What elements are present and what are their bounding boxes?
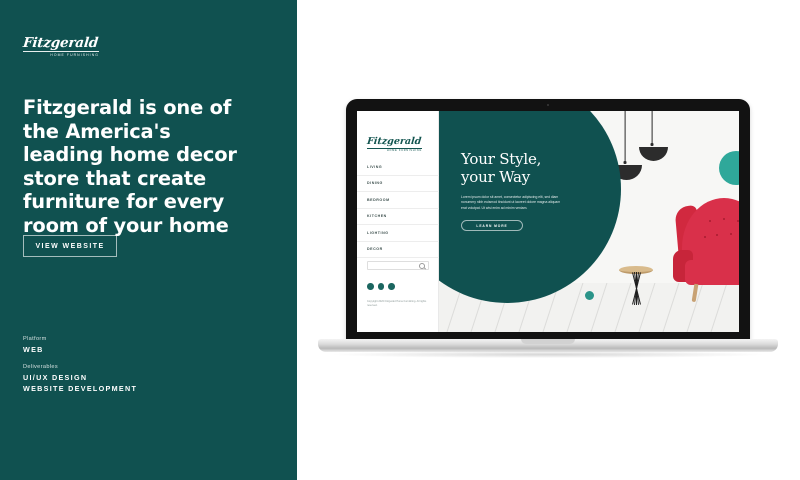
laptop-screen: Fitzgerald HOME FURNISHING LIVING DINING… xyxy=(357,111,739,332)
site-nav-item-dining[interactable]: DINING xyxy=(357,176,439,193)
meta-deliverables-key: Deliverables xyxy=(23,363,137,372)
site-nav-item-lighting[interactable]: LIGHTING xyxy=(357,225,439,242)
hero-title-line-1: Your Style, xyxy=(461,150,541,168)
meta-deliverables: Deliverables UI/UX DESIGN WEBSITE DEVELO… xyxy=(23,363,137,394)
laptop-mockup: Fitzgerald HOME FURNISHING LIVING DINING… xyxy=(318,99,778,361)
site-logo[interactable]: Fitzgerald HOME FURNISHING xyxy=(367,137,423,152)
site-nav-item-living[interactable]: LIVING xyxy=(357,159,439,176)
hero-title-line-2: your Way xyxy=(461,168,530,186)
site-footnote: Copyright 2020 Fitzgerald Home Furnishin… xyxy=(367,300,431,308)
twitter-icon[interactable] xyxy=(378,283,385,290)
brand-logo: Fitzgerald HOME FURNISHING xyxy=(23,36,101,58)
site-main: Your Style, your Way Lorem ipsum dolor s… xyxy=(439,111,739,332)
page-title: Fitzgerald is one of the America's leadi… xyxy=(23,96,255,237)
hero-body: Lorem ipsum dolor sit amet, consectetur … xyxy=(461,195,565,211)
meta-deliverables-value-2: WEBSITE DEVELOPMENT xyxy=(23,384,137,395)
meta-platform: Platform WEB xyxy=(23,335,47,356)
laptop-shadow xyxy=(334,351,762,358)
hero-title: Your Style, your Way xyxy=(461,151,581,186)
armchair xyxy=(671,198,739,303)
website-preview: Fitzgerald HOME FURNISHING LIVING DINING… xyxy=(357,111,739,332)
site-nav-item-bedroom[interactable]: BEDROOM xyxy=(357,192,439,209)
brand-logo-rule xyxy=(23,51,99,52)
site-sidebar: Fitzgerald HOME FURNISHING LIVING DINING… xyxy=(357,111,439,332)
site-nav: LIVING DINING BEDROOM KITCHEN LIGHTING D… xyxy=(357,159,439,258)
search-icon xyxy=(419,263,425,269)
brand-logo-tagline: HOME FURNISHING xyxy=(23,53,99,58)
brand-logo-name: Fitzgerald xyxy=(22,36,101,50)
webcam-icon xyxy=(547,104,549,106)
meta-deliverables-value-1: UI/UX DESIGN xyxy=(23,373,137,384)
learn-more-button[interactable]: LEARN MORE xyxy=(461,220,523,231)
site-nav-item-decor[interactable]: DECOR xyxy=(357,242,439,259)
laptop-lid: Fitzgerald HOME FURNISHING LIVING DINING… xyxy=(346,99,750,343)
meta-platform-value: WEB xyxy=(23,345,47,356)
slide-canvas: Fitzgerald HOME FURNISHING Fitzgerald is… xyxy=(0,0,800,480)
view-website-button[interactable]: VIEW WEBSITE xyxy=(23,235,117,257)
facebook-icon[interactable] xyxy=(367,283,374,290)
instagram-icon[interactable] xyxy=(388,283,395,290)
learn-more-button-label: LEARN MORE xyxy=(476,224,507,228)
search-input[interactable] xyxy=(367,261,429,270)
left-info-panel: Fitzgerald HOME FURNISHING Fitzgerald is… xyxy=(0,0,297,480)
side-stool xyxy=(619,266,653,306)
social-links xyxy=(367,283,395,290)
site-nav-item-kitchen[interactable]: KITCHEN xyxy=(357,209,439,226)
meta-platform-key: Platform xyxy=(23,335,47,344)
view-website-button-label: VIEW WEBSITE xyxy=(35,243,104,250)
hero-copy: Your Style, your Way Lorem ipsum dolor s… xyxy=(461,151,581,231)
site-logo-name: Fitzgerald xyxy=(366,137,423,147)
accent-dot xyxy=(585,291,594,300)
site-logo-tagline: HOME FURNISHING xyxy=(367,149,422,152)
